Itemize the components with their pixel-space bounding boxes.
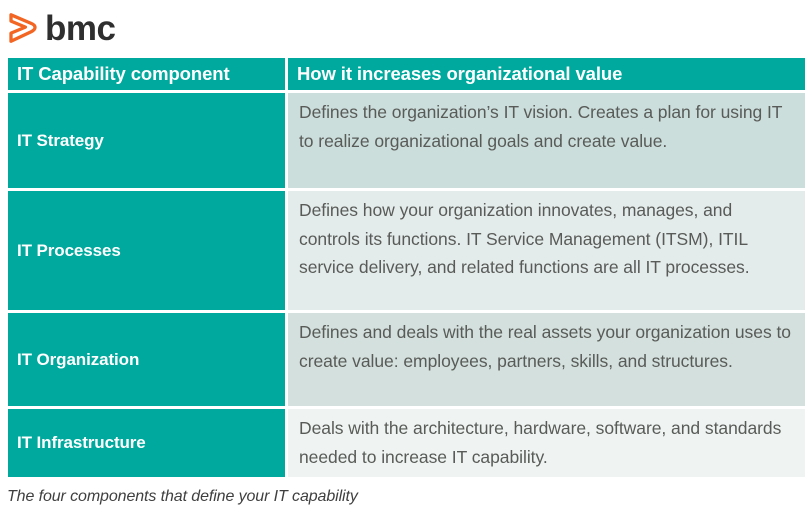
table-caption: The four components that define your IT … (0, 480, 810, 506)
component-description-cell: Defines how your organization innovates,… (288, 191, 805, 310)
capability-table-container: IT Capability component How it increases… (0, 55, 810, 480)
bmc-chevron-logo-icon (8, 13, 38, 43)
brand-header: bmc (0, 0, 810, 55)
table-header-row: IT Capability component How it increases… (8, 58, 805, 90)
table-row: IT Organization Defines and deals with t… (8, 313, 805, 406)
table-row: IT Processes Defines how your organizati… (8, 191, 805, 310)
bmc-wordmark: bmc (45, 11, 115, 46)
component-description-cell: Defines and deals with the real assets y… (288, 313, 805, 406)
it-capability-table: IT Capability component How it increases… (5, 55, 808, 480)
table-row: IT Strategy Defines the organization’s I… (8, 93, 805, 188)
column-header-component: IT Capability component (8, 58, 285, 90)
component-description-cell: Defines the organization’s IT vision. Cr… (288, 93, 805, 188)
component-name-cell: IT Infrastructure (8, 409, 285, 477)
component-name-cell: IT Organization (8, 313, 285, 406)
component-name-cell: IT Processes (8, 191, 285, 310)
column-header-value: How it increases organizational value (288, 58, 805, 90)
component-description-cell: Deals with the architecture, hardware, s… (288, 409, 805, 477)
component-name-cell: IT Strategy (8, 93, 285, 188)
table-row: IT Infrastructure Deals with the archite… (8, 409, 805, 477)
